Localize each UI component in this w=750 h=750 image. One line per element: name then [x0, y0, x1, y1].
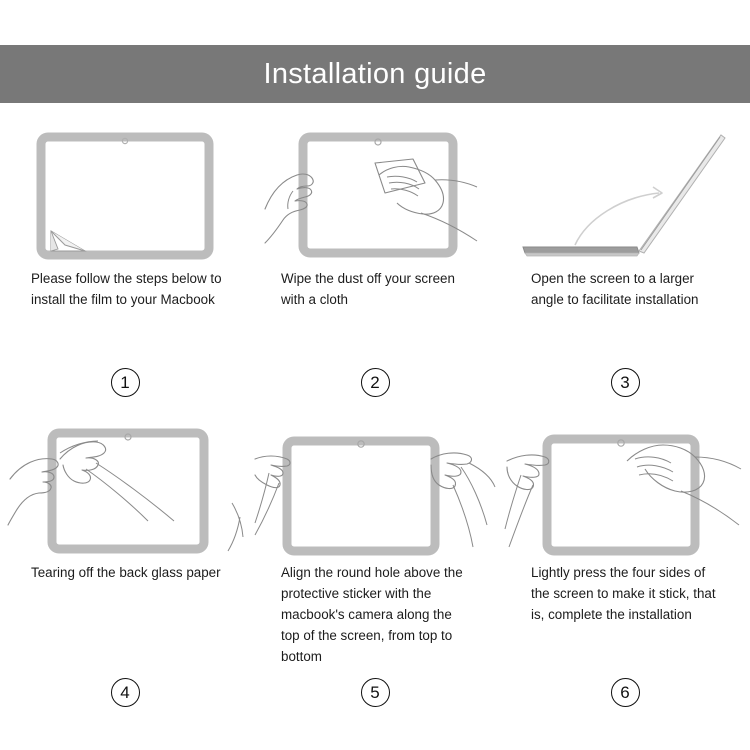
page-title: Installation guide [263, 60, 486, 89]
press-four-sides-icon [505, 417, 745, 557]
step-number-badge-5: 5 [361, 678, 390, 707]
step-number-badge-1: 1 [111, 368, 140, 397]
hand-wiping-screen-icon [263, 123, 488, 263]
step-caption-1: Please follow the steps below to install… [0, 268, 250, 352]
step-caption-5: Align the round hole above the protectiv… [250, 562, 500, 670]
laptop-open-screen-icon [513, 123, 738, 263]
step-number-badge-6: 6 [611, 678, 640, 707]
step-number-badge-2: 2 [361, 368, 390, 397]
peeling-back-paper-icon [8, 417, 243, 557]
step-badge-wrap-5: 5 [250, 670, 500, 712]
step-badge-wrap-4: 4 [0, 670, 250, 712]
step-badge-wrap-1: 1 [0, 352, 250, 412]
step-badge-wrap-6: 6 [500, 670, 750, 712]
step-illustration-1 [0, 118, 250, 268]
step-card-2: Wipe the dust off your screen with a clo… [250, 118, 500, 412]
step-caption-3: Open the screen to a larger angle to fac… [500, 268, 750, 352]
step-illustration-5 [250, 412, 500, 562]
step-caption-6: Lightly press the four sides of the scre… [500, 562, 750, 670]
step-illustration-3 [500, 118, 750, 268]
step-caption-4: Tearing off the back glass paper [0, 562, 250, 670]
two-hands-aligning-film-icon [255, 417, 495, 557]
screen-with-peeling-film-icon [25, 123, 225, 263]
step-card-4: Tearing off the back glass paper 4 [0, 412, 250, 712]
step-badge-wrap-2: 2 [250, 352, 500, 412]
step-card-1: Please follow the steps below to install… [0, 118, 250, 412]
steps-row-bottom: Tearing off the back glass paper 4 [0, 412, 750, 712]
steps-grid: Please follow the steps below to install… [0, 118, 750, 712]
steps-row-top: Please follow the steps below to install… [0, 118, 750, 412]
step-illustration-2 [250, 118, 500, 268]
installation-guide-header: Installation guide [0, 45, 750, 103]
step-caption-2: Wipe the dust off your screen with a clo… [250, 268, 500, 352]
step-illustration-4 [0, 412, 250, 562]
step-card-5: Align the round hole above the protectiv… [250, 412, 500, 712]
step-illustration-6 [500, 412, 750, 562]
step-card-3: Open the screen to a larger angle to fac… [500, 118, 750, 412]
step-card-6: Lightly press the four sides of the scre… [500, 412, 750, 712]
step-number-badge-3: 3 [611, 368, 640, 397]
step-number-badge-4: 4 [111, 678, 140, 707]
step-badge-wrap-3: 3 [500, 352, 750, 412]
